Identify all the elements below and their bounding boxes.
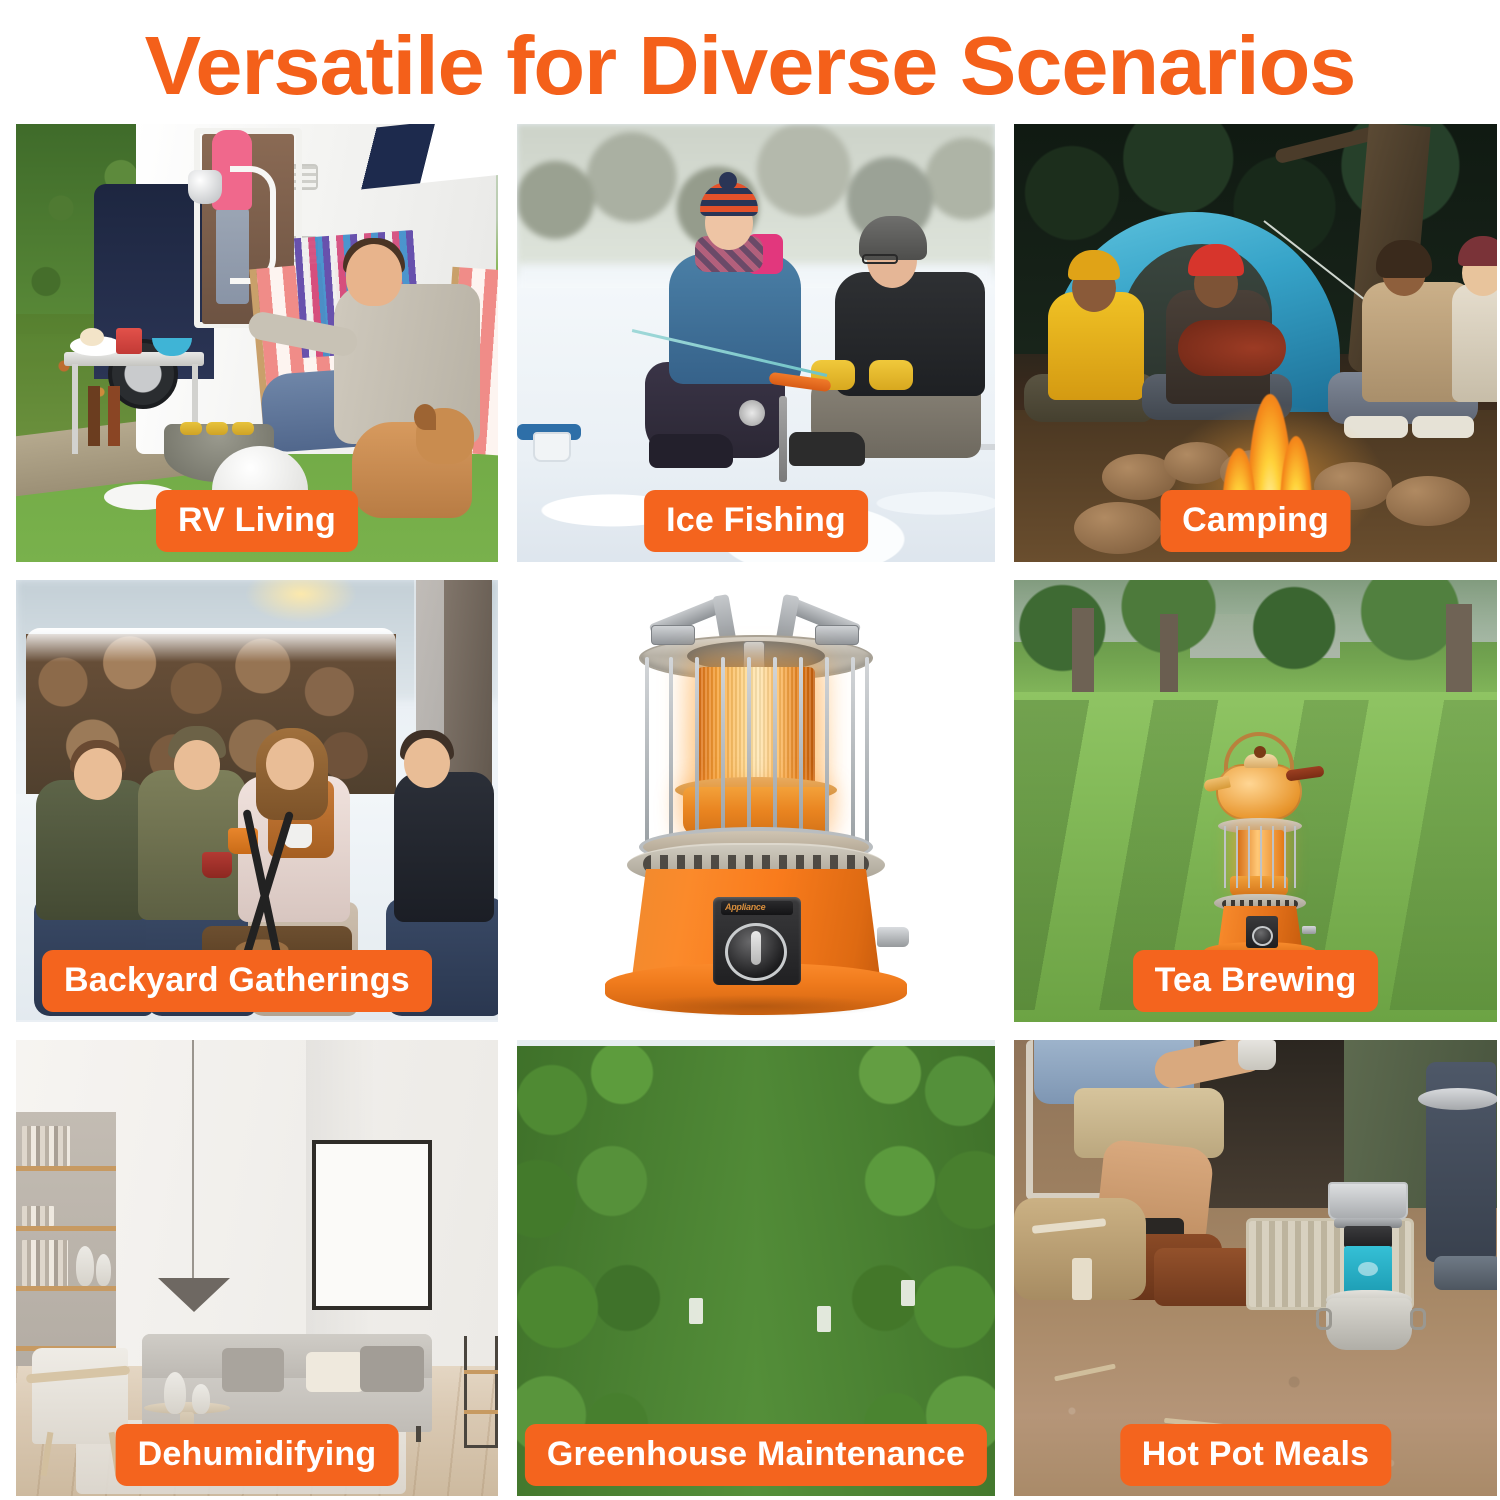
beanie-pompom (719, 172, 737, 190)
enamel-cup (1238, 1040, 1276, 1070)
badge-dehumidifying: Dehumidifying (116, 1424, 399, 1486)
panel-rv-living[interactable]: RV Living (16, 124, 498, 562)
kettle-handle-right (1410, 1308, 1426, 1330)
control-knob (1252, 926, 1273, 946)
fire-ring-rock (1074, 502, 1162, 554)
cage-bar (645, 657, 649, 847)
framed-artwork (312, 1140, 432, 1310)
sofa-leg (416, 1426, 421, 1442)
badge-hot-pot-meals: Hot Pot Meals (1120, 1424, 1391, 1486)
panel-hot-pot-meals[interactable]: Hot Pot Meals (1014, 1040, 1497, 1496)
metal-pan (1418, 1088, 1497, 1110)
decorative-vase (76, 1246, 94, 1286)
cage-bar (747, 657, 751, 847)
heater-with-teapot (1202, 730, 1318, 950)
stove-valve (1344, 1226, 1392, 1248)
safety-cage (1222, 826, 1298, 888)
sofa-cushion-dark (360, 1346, 424, 1392)
cage-bar (1272, 826, 1274, 888)
decorative-vase (96, 1254, 111, 1286)
pendant-lamp (158, 1278, 230, 1312)
sofa-cushion-light (306, 1352, 364, 1392)
vine-tag (901, 1280, 915, 1306)
yellow-glove-right (869, 360, 913, 390)
cage-bar (865, 657, 869, 847)
bait-bucket (533, 432, 571, 462)
teapot-lid-knob (1254, 746, 1266, 758)
corn-cob (206, 422, 228, 435)
cage-bar (851, 657, 855, 847)
cage-bar (721, 657, 725, 847)
badge-tea-brewing: Tea Brewing (1133, 950, 1379, 1012)
panel-backyard-gatherings[interactable]: Backyard Gatherings (16, 580, 498, 1022)
tree-trunk (1160, 614, 1178, 704)
eyeglasses (862, 254, 898, 264)
camper4-cream-jacket (1452, 284, 1497, 402)
badge-rv-living: RV Living (156, 490, 358, 552)
brand-mark: Appliance (725, 902, 789, 913)
gas-inlet-nozzle (877, 927, 909, 947)
lounge-chair (32, 1348, 128, 1444)
tall-vase (164, 1372, 186, 1414)
top-clip-right (815, 625, 859, 645)
backpack-buckle (1072, 1258, 1092, 1300)
product-shadow (625, 995, 887, 1017)
infographic-page: Versatile for Diverse Scenarios (0, 0, 1500, 1500)
cage-bar (1248, 826, 1250, 888)
second-camper-shoe (1434, 1256, 1497, 1290)
panel-greenhouse-maintenance[interactable]: Greenhouse Maintenance (517, 1040, 995, 1496)
cage-bar (1294, 826, 1296, 888)
camper-sneaker-right (1412, 416, 1474, 438)
man-head (346, 244, 402, 306)
man-boot (789, 432, 865, 466)
person1-head (74, 748, 122, 800)
cage-bar (695, 657, 699, 847)
badge-greenhouse-maintenance: Greenhouse Maintenance (525, 1424, 987, 1486)
small-vase (192, 1384, 210, 1414)
rv-handrail (230, 166, 276, 284)
dog-ear (414, 404, 436, 430)
panel-tea-brewing[interactable]: Tea Brewing (1014, 580, 1497, 1022)
fire-ring-rock (1386, 476, 1470, 526)
person4-black-coat (394, 772, 494, 922)
person2-head (174, 740, 220, 790)
camp-kettle (1326, 1298, 1412, 1350)
bookshelf-shelf (16, 1286, 116, 1291)
snow-on-logs (26, 628, 396, 662)
sun-flare (246, 580, 356, 622)
table-leg-left (72, 364, 78, 454)
sauce-bottles (84, 386, 130, 446)
cage-bar (1260, 826, 1262, 888)
panel-dehumidifying[interactable]: Dehumidifying (16, 1040, 498, 1496)
ice-auger (779, 396, 787, 482)
cage-bar (1236, 826, 1238, 888)
portable-heater-product: Appliance (591, 591, 921, 1011)
corn-cob (180, 422, 202, 435)
gas-inlet-nozzle (1302, 926, 1316, 934)
fishing-reel (739, 400, 765, 426)
pendant-cord (192, 1040, 194, 1282)
kettle-handle-left (1316, 1308, 1332, 1330)
page-title: Versatile for Diverse Scenarios (0, 18, 1500, 114)
safety-cage (643, 657, 869, 847)
cage-bar (773, 657, 777, 847)
sofa-cushion-dark (222, 1348, 284, 1392)
person4-head (404, 738, 450, 788)
bookshelf-shelf (16, 1166, 116, 1171)
person3-head (266, 738, 314, 790)
books (22, 1240, 68, 1286)
cage-bar (825, 657, 829, 847)
canister-label (1358, 1262, 1378, 1276)
vine-tag (689, 1298, 703, 1324)
cage-bar (1224, 826, 1226, 888)
top-clip-left (651, 625, 695, 645)
jam-jar (116, 328, 142, 354)
side-shelf (464, 1336, 498, 1448)
side-shelf-plank (464, 1410, 498, 1414)
knob-indicator (751, 931, 761, 965)
scenario-grid: RV Living (16, 124, 1484, 1492)
badge-ice-fishing: Ice Fishing (644, 490, 868, 552)
cage-bar (799, 657, 803, 847)
panel-product-hero[interactable]: Appliance (517, 580, 995, 1022)
books (22, 1206, 54, 1226)
cage-bar (1284, 826, 1286, 888)
bookshelf-shelf (16, 1226, 116, 1231)
tree-trunk (1446, 604, 1472, 704)
cooking-pot (1328, 1182, 1408, 1220)
kettle (188, 170, 222, 204)
badge-camping: Camping (1160, 490, 1351, 552)
woman-boot (649, 434, 733, 468)
tree-trunk (1072, 608, 1094, 704)
person1-olive-jacket (36, 780, 148, 920)
panel-ice-fishing[interactable]: Ice Fishing (517, 124, 995, 562)
corn-cob (232, 422, 254, 435)
panel-camping[interactable]: Camping (1014, 124, 1497, 562)
side-shelf-plank (464, 1370, 498, 1374)
books (22, 1126, 70, 1166)
vine-tag (817, 1306, 831, 1332)
egg (80, 328, 104, 346)
cage-bar (669, 657, 673, 847)
badge-backyard-gatherings: Backyard Gatherings (42, 950, 432, 1012)
